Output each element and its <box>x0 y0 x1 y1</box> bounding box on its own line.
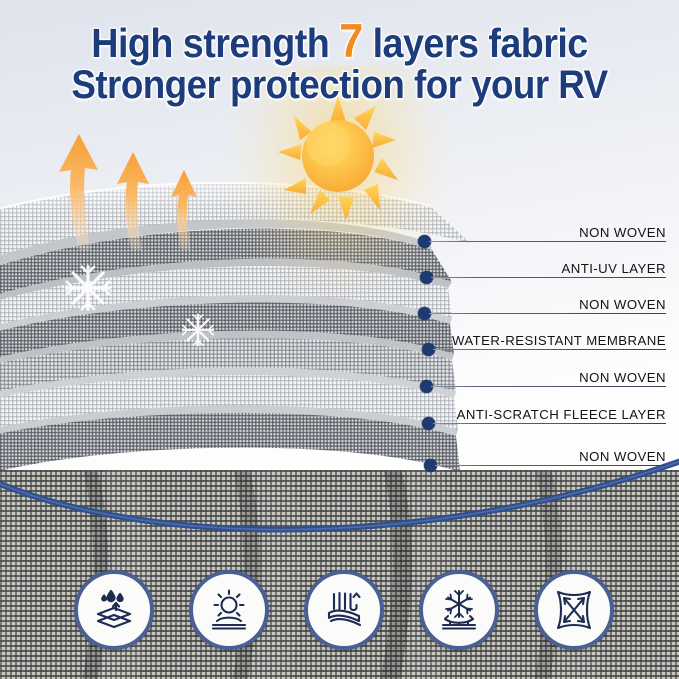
layer-callout: WATER-RESISTANT MEMBRANE <box>422 334 666 364</box>
layer-count-highlight: 7 <box>339 14 363 67</box>
feature-badges <box>0 566 679 662</box>
layer-callout: ANTI-UV LAYER <box>420 262 666 292</box>
headline-line-1: High strength 7 layers fabric <box>27 18 652 65</box>
badge-uv-protection[interactable] <box>189 570 269 650</box>
badge-snow-resistant[interactable] <box>419 570 499 650</box>
layer-callout: NON WOVEN <box>420 371 666 401</box>
callout-line <box>433 349 666 350</box>
badge-waterproof[interactable] <box>74 570 154 650</box>
windproof-icon <box>319 585 369 635</box>
layer-label: NON WOVEN <box>579 225 666 240</box>
layer-label: NON WOVEN <box>579 297 666 312</box>
layer-callout: NON WOVEN <box>424 450 666 480</box>
callout-line <box>431 386 666 387</box>
callout-line <box>429 241 666 242</box>
headline-text-after: layers fabric <box>363 20 588 66</box>
layer-label: NON WOVEN <box>579 370 666 385</box>
layer-callout: NON WOVEN <box>418 298 666 328</box>
layer-callout: NON WOVEN <box>418 226 666 256</box>
badge-windproof[interactable] <box>304 570 384 650</box>
layer-label: ANTI-UV LAYER <box>561 261 666 276</box>
uv-protection-icon <box>204 585 254 635</box>
layer-label: WATER-RESISTANT MEMBRANE <box>452 333 666 348</box>
layer-callout: ANTI-SCRATCH FLEECE LAYER <box>422 408 666 438</box>
headline-line-2: Stronger protection for your RV <box>27 66 652 106</box>
callout-line <box>435 465 666 466</box>
headline-text-before: High strength <box>91 20 339 66</box>
infographic-poster: NON WOVEN ANTI-UV LAYER NON WOVEN WATER-… <box>0 0 679 679</box>
waterproof-icon <box>89 585 139 635</box>
badge-tear-resistant[interactable] <box>534 570 614 650</box>
callout-line <box>429 313 666 314</box>
snow-resistant-icon <box>434 585 484 635</box>
page-title: High strength 7 layers fabric Stronger p… <box>0 18 679 105</box>
callout-line <box>431 277 666 278</box>
layer-label: NON WOVEN <box>579 449 666 464</box>
callout-line <box>433 423 666 424</box>
tear-resistant-icon <box>549 585 599 635</box>
layer-label: ANTI-SCRATCH FLEECE LAYER <box>457 407 666 422</box>
